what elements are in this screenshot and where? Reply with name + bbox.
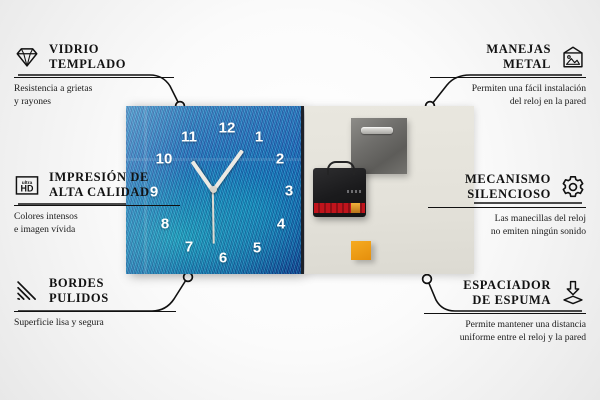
feature-divider (428, 207, 586, 209)
clock-numeral-3: 3 (285, 184, 293, 199)
feature-title: BORDES PULIDOS (49, 276, 109, 306)
feature-description: Superficie lisa y segura (14, 317, 176, 329)
movement-label-chip (351, 203, 360, 213)
ultra-hd-icon-large-label: HD (21, 183, 34, 193)
wall-frame-icon (560, 44, 586, 70)
feature-divider (424, 313, 586, 315)
feature-title: IMPRESIÓN DE ALTA CALIDAD (49, 170, 150, 200)
clock-numeral-10: 10 (156, 152, 173, 167)
quartz-movement (313, 168, 366, 217)
clock-hand-cap (210, 186, 217, 193)
feature-description: Resistencia a grietas y rayones (14, 83, 174, 108)
clock-numeral-6: 6 (219, 251, 227, 266)
clock-numeral-12: 12 (219, 121, 236, 136)
polished-edge-icon (14, 278, 40, 304)
feature-title: ESPACIADOR DE ESPUMA (463, 278, 551, 308)
arrow-layers-icon (560, 280, 586, 306)
feature-divider (14, 311, 176, 313)
feature-bordes-pulidos: BORDES PULIDOS Superficie lisa y segura (14, 276, 176, 330)
feature-impresion-alta-calidad: ultra HD IMPRESIÓN DE ALTA CALIDAD Color… (14, 170, 180, 236)
clock-numeral-1: 1 (255, 130, 263, 145)
clock-numeral-11: 11 (181, 130, 197, 145)
metal-hanger-plate (351, 118, 407, 174)
diamond-icon (14, 44, 40, 70)
feature-description: Colores intensos e imagen vívida (14, 211, 180, 236)
hanger-slot (361, 127, 393, 134)
feature-manejas-metal: MANEJAS METAL Permiten una fácil instala… (430, 42, 586, 108)
pattern-line-horizontal (126, 158, 301, 161)
ultra-hd-icon: ultra HD (14, 172, 40, 198)
feature-mecanismo-silencioso: MECANISMO SILENCIOSO Las manecillas del … (428, 172, 586, 238)
clock-numeral-4: 4 (277, 217, 285, 232)
feature-title: MECANISMO SILENCIOSO (465, 172, 551, 202)
feature-vidrio-templado: VIDRIO TEMPLADO Resistencia a grietas y … (14, 42, 174, 108)
feature-divider (14, 205, 180, 207)
infographic-canvas: 12 1 2 3 4 5 6 7 8 9 10 11 (0, 0, 600, 400)
movement-hook (327, 161, 355, 175)
feature-description: Las manecillas del reloj no emiten ningú… (428, 213, 586, 238)
movement-detail (347, 190, 361, 193)
feature-divider (14, 77, 174, 79)
clock-numeral-2: 2 (276, 152, 284, 167)
feature-espaciador-espuma: ESPACIADOR DE ESPUMA Permite mantener un… (424, 278, 586, 344)
feature-description: Permite mantener una distancia uniforme … (424, 319, 586, 344)
feature-title: MANEJAS METAL (486, 42, 551, 72)
feature-description: Permiten una fácil instalación del reloj… (430, 83, 586, 108)
gear-icon (560, 174, 586, 200)
foam-spacer (351, 241, 371, 260)
feature-divider (430, 77, 586, 79)
clock-numeral-5: 5 (253, 241, 261, 256)
feature-title: VIDRIO TEMPLADO (49, 42, 126, 72)
clock-numeral-7: 7 (185, 240, 193, 255)
